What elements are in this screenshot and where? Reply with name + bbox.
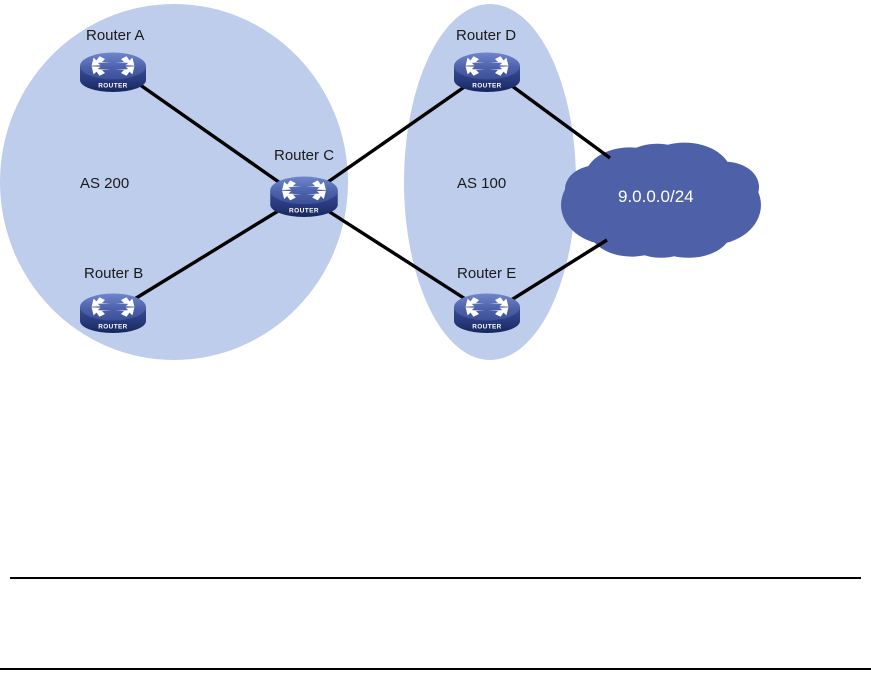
router-a-icon[interactable]	[80, 53, 146, 93]
router-e-label: Router E	[457, 266, 516, 281]
router-d-label: Router D	[456, 28, 516, 43]
as-zone-label-as200: AS 200	[80, 176, 129, 191]
as-zone-label-as100: AS 100	[457, 176, 506, 191]
network-cloud-label: 9.0.0.0/24	[618, 188, 694, 205]
router-b-label: Router B	[84, 266, 143, 281]
router-c-icon[interactable]	[270, 177, 338, 217]
footer-rule-top	[10, 577, 861, 579]
footer-rule-bottom	[0, 668, 871, 670]
footer-rules-layer	[0, 577, 871, 670]
router-c-label: Router C	[274, 148, 334, 163]
router-e-icon[interactable]	[454, 294, 520, 334]
router-b-icon[interactable]	[80, 294, 146, 334]
network-topology-diagram: ROUTER	[0, 0, 871, 675]
cloud-puff	[624, 207, 698, 257]
router-a-label: Router A	[86, 28, 144, 43]
cloud-puff	[696, 198, 751, 239]
router-d-icon[interactable]	[454, 53, 520, 93]
